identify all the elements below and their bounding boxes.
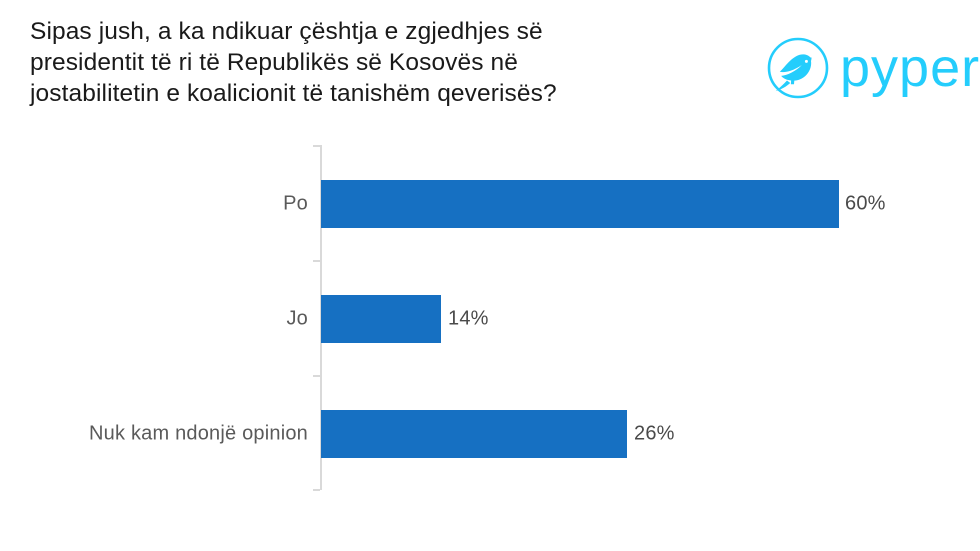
category-label: Jo — [286, 308, 308, 331]
bar-value-label: 60% — [845, 193, 886, 216]
title-line-2: presidentit të ri të Republikës së Kosov… — [30, 47, 710, 78]
title-line-3: jostabilitetin e koalicionit të tanishëm… — [30, 78, 710, 109]
bar-value-label: 14% — [448, 308, 489, 331]
pyper-logo: pyper — [762, 32, 962, 108]
bar-chart: Po 60% Jo 14% Nuk kam ndonjë opinion 26% — [0, 130, 980, 530]
category-label: Nuk kam ndonjë opinion — [89, 423, 308, 446]
category-label: Po — [283, 193, 308, 216]
chart-bar-row: Jo 14% — [0, 259, 980, 379]
bar-value-label: 26% — [634, 423, 675, 446]
chart-bar-row: Nuk kam ndonjë opinion 26% — [0, 374, 980, 494]
title-line-1: Sipas jush, a ka ndikuar çështja e zgjed… — [30, 16, 710, 47]
logo-wordmark: pyper — [840, 38, 980, 98]
header: Sipas jush, a ka ndikuar çështja e zgjed… — [0, 0, 980, 130]
plot-area: Po 60% Jo 14% Nuk kam ndonjë opinion 26% — [0, 130, 980, 530]
chart-bar-row: Po 60% — [0, 144, 980, 264]
bird-in-circle-icon — [762, 34, 834, 106]
bar-po[interactable] — [321, 180, 839, 228]
bar-nuk-kam-ndonje-opinion[interactable] — [321, 410, 627, 458]
bar-jo[interactable] — [321, 295, 441, 343]
page-title: Sipas jush, a ka ndikuar çështja e zgjed… — [30, 16, 710, 109]
